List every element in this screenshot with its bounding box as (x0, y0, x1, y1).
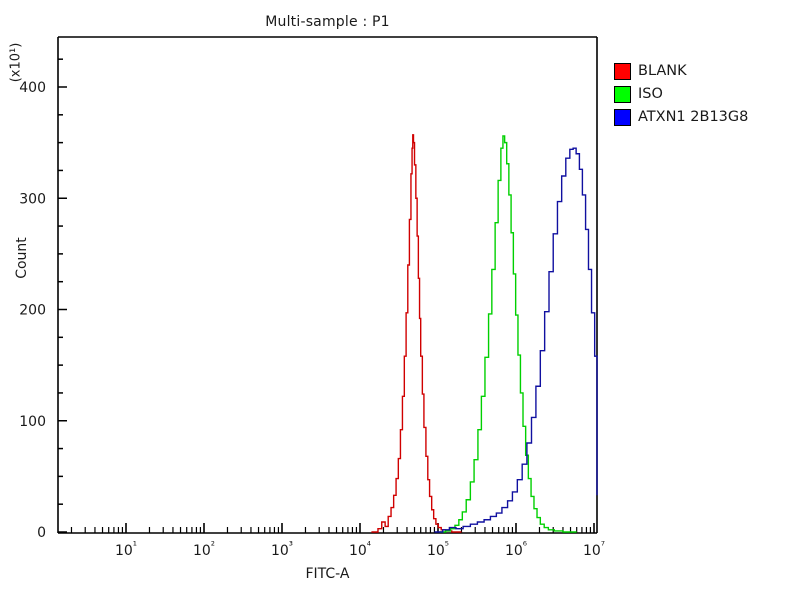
x-tick-label: 10¹ (115, 540, 137, 559)
legend-swatch (614, 63, 631, 80)
y-tick-label: 100 (19, 414, 46, 430)
x-tick-label: 10⁵ (427, 540, 449, 559)
y-tick-label: 0 (37, 525, 46, 541)
legend-item[interactable]: BLANK (614, 60, 748, 82)
series-curve (440, 136, 577, 532)
x-axis-ticks: 10¹10²10³10⁴10⁵10⁶10⁷ (71, 523, 605, 559)
series-curve (434, 148, 597, 532)
legend-label: BLANK (638, 63, 687, 79)
legend: BLANKISOATXN1 2B13G8 (614, 60, 748, 129)
x-tick-label: 10⁴ (349, 540, 371, 559)
y-tick-label: 200 (19, 303, 46, 319)
x-tick-label: 10⁶ (505, 540, 527, 559)
y-axis-ticks: 0100200300400 (19, 59, 67, 541)
legend-label: ISO (638, 86, 663, 102)
legend-swatch (614, 109, 631, 126)
x-tick-label: 10² (193, 540, 215, 559)
legend-item[interactable]: ISO (614, 83, 748, 105)
y-tick-label: 400 (19, 80, 46, 96)
x-tick-label: 10⁷ (583, 540, 605, 559)
series-curves (371, 135, 597, 532)
legend-label: ATXN1 2B13G8 (638, 109, 748, 125)
series-curve (371, 135, 461, 532)
y-tick-label: 300 (19, 191, 46, 207)
legend-item[interactable]: ATXN1 2B13G8 (614, 106, 748, 128)
legend-swatch (614, 86, 631, 103)
x-tick-label: 10³ (271, 540, 293, 559)
flow-cytometry-histogram: Multi-sample : P1 (x10¹) Count FITC-A 01… (0, 0, 800, 600)
